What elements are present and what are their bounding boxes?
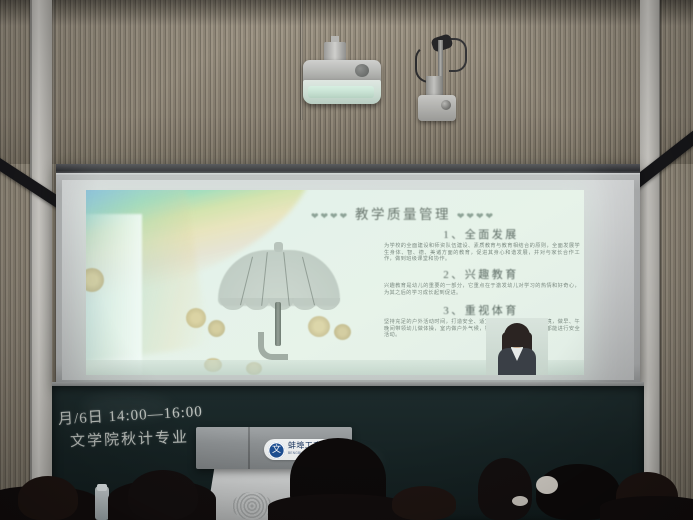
flower-icon bbox=[186, 308, 206, 328]
audience-shoulder bbox=[268, 494, 410, 520]
flower-icon bbox=[334, 324, 351, 340]
hair-scrunchie bbox=[536, 476, 558, 494]
presenter-video-inset bbox=[486, 318, 548, 375]
slide-section-1: 1、全面发展 为学校的全面建设和师资队伍建设、素质教育与教育相结合的原则，全面发… bbox=[378, 226, 584, 263]
projector-glow bbox=[308, 86, 374, 98]
pillar-left-edge bbox=[29, 0, 32, 520]
flower-icon bbox=[308, 316, 330, 337]
slide-title-text: 教学质量管理 bbox=[355, 207, 451, 222]
section-2-body: 兴趣教育是幼儿的重要的一部分，它重点在于激发幼儿对学习的热情和好奇心，为其之后的… bbox=[378, 282, 584, 296]
umbrella-scallop bbox=[314, 298, 340, 310]
classroom-photo-scene: ❤❤❤❤ 教学质量管理 ❤❤❤❤ 1、全面发展 为学校的全面建设 bbox=[0, 0, 693, 520]
audience-head bbox=[128, 470, 198, 520]
wall-seam-mid bbox=[300, 0, 303, 120]
umbrella-scallop bbox=[244, 298, 270, 310]
flower-icon bbox=[208, 320, 225, 337]
podium-speaker-grille bbox=[232, 492, 272, 520]
hearts-left-icon: ❤❤❤❤ bbox=[311, 211, 349, 221]
wall-seam-left bbox=[52, 0, 55, 200]
pillar-right-edge bbox=[659, 0, 662, 520]
camera-lens-icon bbox=[441, 100, 451, 110]
umbrella-scallop bbox=[268, 298, 294, 310]
umbrella-handle-icon bbox=[258, 332, 288, 360]
audience-head bbox=[392, 486, 456, 520]
section-3-heading: 3、重视体育 bbox=[378, 302, 584, 318]
water-bottle-cap bbox=[97, 484, 107, 491]
ceiling-shadow bbox=[0, 0, 693, 26]
chalkboard-line-2: 文学院秋计专业 bbox=[70, 426, 190, 451]
water-bottle bbox=[95, 486, 109, 520]
school-emblem-glyph: 文 bbox=[272, 445, 280, 454]
slide-left-fade bbox=[86, 214, 142, 375]
audience-shoulder bbox=[600, 496, 693, 520]
security-camera-body bbox=[418, 95, 456, 121]
audience-head bbox=[18, 476, 78, 520]
wall-panel-lower bbox=[0, 118, 693, 164]
slide-section-3: 3、重视体育 坚持充足的户外活动时间，打造安全、适宜的户外体育活动设置环境，做早… bbox=[378, 302, 584, 339]
slide-section-2: 2、兴趣教育 兴趣教育是幼儿的重要的一部分，它重点在于激发幼儿对学习的热情和好奇… bbox=[378, 266, 584, 296]
section-1-heading: 1、全面发展 bbox=[378, 226, 584, 242]
audience-head bbox=[478, 458, 532, 520]
podium-seam bbox=[248, 427, 250, 469]
projector-lens-icon bbox=[355, 64, 369, 77]
presenter-hair bbox=[504, 323, 530, 347]
hearts-right-icon: ❤❤❤❤ bbox=[457, 211, 495, 221]
hair-tie bbox=[512, 496, 528, 506]
whiteboard-rail-highlight bbox=[56, 173, 640, 176]
section-3-body: 坚持充足的户外活动时间，打造安全、适宜的户外体育活动设置环境，做早、午晚间带领幼… bbox=[378, 318, 584, 339]
slide-title: ❤❤❤❤ 教学质量管理 ❤❤❤❤ bbox=[258, 203, 548, 223]
projected-slide: ❤❤❤❤ 教学质量管理 ❤❤❤❤ 1、全面发展 为学校的全面建设 bbox=[86, 190, 584, 375]
section-2-heading: 2、兴趣教育 bbox=[378, 266, 584, 282]
pillar-left bbox=[30, 0, 52, 520]
section-1-body: 为学校的全面建设和师资队伍建设、素质教育与教育相结合的原则，全面发展学生身体、智… bbox=[378, 242, 584, 263]
